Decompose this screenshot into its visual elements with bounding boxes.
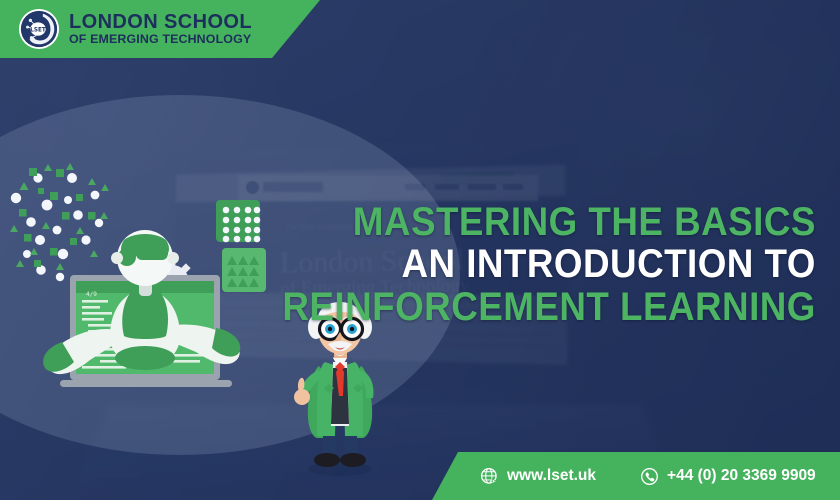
website-contact[interactable]: www.lset.uk xyxy=(480,467,596,486)
phone-label: +44 (0) 20 3369 9909 xyxy=(667,467,816,485)
globe-icon xyxy=(480,467,499,486)
headline: MASTERING THE BASICS AN INTRODUCTION TO … xyxy=(236,203,816,326)
brand-logo-line2: OF EMERGING TECHNOLOGY xyxy=(69,33,252,46)
headline-line3: REINFORCEMENT LEARNING xyxy=(283,288,816,326)
phone-contact[interactable]: +44 (0) 20 3369 9909 xyxy=(640,467,816,486)
headline-line1: MASTERING THE BASICS xyxy=(283,203,816,241)
svg-text:LSET: LSET xyxy=(30,27,46,33)
brand-logo-line1: LONDON SCHOOL xyxy=(69,12,252,32)
banner-root: The Next Generation of Learning London S… xyxy=(0,0,840,500)
svg-text:4/9: 4/9 xyxy=(86,291,97,298)
footer-green-bar: www.lset.uk +44 (0) 20 3369 9909 xyxy=(432,452,840,500)
website-label: www.lset.uk xyxy=(507,467,596,485)
brand-logo[interactable]: LSET LONDON SCHOOL OF EMERGING TECHNOLOG… xyxy=(18,8,252,50)
lset-head-circuit-emblem-icon: LSET xyxy=(18,8,60,50)
scatter-dots-squares-triangles xyxy=(10,163,109,281)
robot-illustration: 4/9 xyxy=(0,130,270,410)
phone-icon xyxy=(640,467,659,486)
headline-line2: AN INTRODUCTION TO xyxy=(283,245,816,283)
brand-logo-text: LONDON SCHOOL OF EMERGING TECHNOLOGY xyxy=(69,12,252,45)
